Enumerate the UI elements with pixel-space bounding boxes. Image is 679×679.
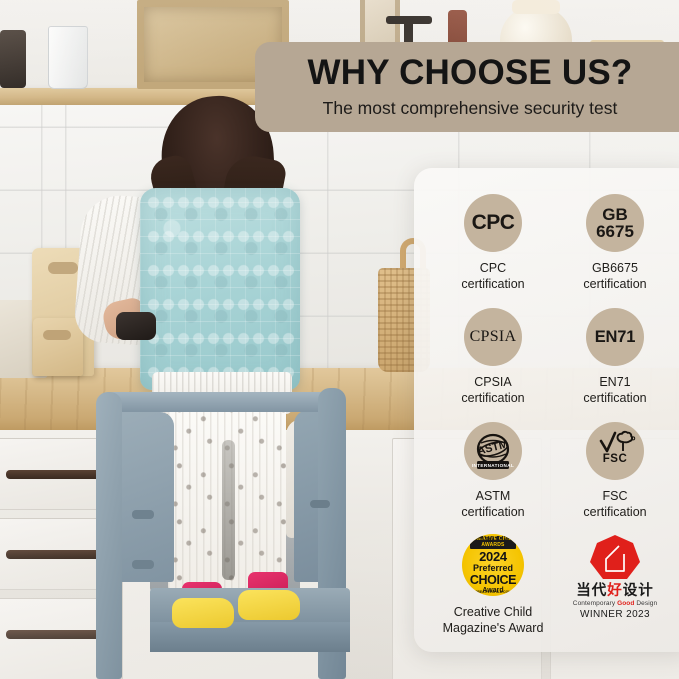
cc-preferred-text: Preferred <box>473 564 513 573</box>
tower-height-slot <box>310 500 330 508</box>
cpsia-mark-text: CPSIA <box>470 328 517 346</box>
cgd-chinese-title: 当代好设计 <box>576 584 654 599</box>
cgd-en-post: Design <box>634 600 657 607</box>
certification-item-en71: EN71 EN71 certification <box>554 308 676 406</box>
en71-label-line1: EN71 <box>599 375 630 389</box>
drawer-handle <box>6 550 104 559</box>
gb6675-badge-icon: GB 6675 <box>586 194 644 252</box>
astm-badge-icon: ASTM INTERNATIONAL <box>464 422 522 480</box>
cgd-en-good: Good <box>617 600 634 607</box>
cpsia-badge-icon: CPSIA <box>464 308 522 366</box>
cc-choice-text: CHOICE <box>470 574 516 587</box>
cpsia-label-line2: certification <box>461 391 524 405</box>
cpsia-label-line1: CPSIA <box>474 375 512 389</box>
cpsia-label: CPSIA certification <box>461 374 524 406</box>
en71-label-line2: certification <box>583 391 646 405</box>
tower-height-slot <box>132 560 154 569</box>
drawer-handle <box>6 630 104 639</box>
certification-item-gb6675: GB 6675 GB6675 certification <box>554 194 676 292</box>
page-title: WHY CHOOSE US? <box>308 55 633 92</box>
cc-year-text: 2024 <box>479 550 507 563</box>
certification-item-astm: ASTM INTERNATIONAL ASTM certification <box>432 422 554 520</box>
cc-arc-top-text: CREATIVE CHILD MAGAZINE <box>462 537 524 541</box>
shelf-glass-vase <box>48 26 88 89</box>
astm-globe-icon: ASTM INTERNATIONAL <box>471 429 515 473</box>
gb6675-label-line2: certification <box>583 277 646 291</box>
red-polygon-logo-icon <box>589 534 641 582</box>
page-subtitle: The most comprehensive security test <box>323 98 618 119</box>
astm-label-line2: certification <box>461 505 524 519</box>
gb-mark-number: 6675 <box>596 223 634 241</box>
cutting-board-small <box>33 318 83 376</box>
creative-child-award-label: Creative Child Magazine's Award <box>443 604 544 636</box>
header-banner: WHY CHOOSE US? The most comprehensive se… <box>255 42 679 132</box>
product-marketing-image: WHY CHOOSE US? The most comprehensive se… <box>0 0 679 679</box>
astm-label: ASTM certification <box>461 488 524 520</box>
cgd-cn-hao: 好 <box>607 583 623 599</box>
creative-child-award-badge-icon: CREATIVE CHILD MAGAZINE CREATIVE CHILD A… <box>462 534 524 596</box>
fsc-label: FSC certification <box>583 488 646 520</box>
drawer-handle <box>6 470 104 479</box>
award-item-creative-child: CREATIVE CHILD MAGAZINE CREATIVE CHILD A… <box>432 534 554 636</box>
cgd-winner-year: WINNER 2023 <box>580 610 650 620</box>
certification-item-cpc: CPC CPC certification <box>432 194 554 292</box>
cc-label-line2: Magazine's Award <box>443 621 544 635</box>
tower-top-rail <box>104 392 336 412</box>
cc-arc-bottom-text: CREATIVECHILD.COM <box>462 590 524 594</box>
cpc-badge-icon: CPC <box>464 194 522 252</box>
svg-text:FSC: FSC <box>603 453 628 465</box>
certification-item-fsc: FSC FSC certification <box>554 422 676 520</box>
gb6675-label-line1: GB6675 <box>592 261 638 275</box>
certification-item-cpsia: CPSIA CPSIA certification <box>432 308 554 406</box>
fsc-badge-icon: FSC <box>586 422 644 480</box>
fsc-label-line2: certification <box>583 505 646 519</box>
child-quilted-vest <box>140 188 300 390</box>
gb6675-label: GB6675 certification <box>583 260 646 292</box>
svg-text:INTERNATIONAL: INTERNATIONAL <box>472 463 514 468</box>
shelf-dark-object <box>0 30 26 88</box>
cc-label-line1: Creative Child <box>454 605 533 619</box>
child-shoe-right <box>238 590 300 620</box>
cpc-label-line2: certification <box>461 277 524 291</box>
cpc-label: CPC certification <box>461 260 524 292</box>
certification-grid: CPC CPC certification GB 6675 GB6675 cer… <box>432 194 676 520</box>
child-shoe-left <box>172 598 234 628</box>
cgd-en-pre: Contemporary <box>573 600 617 607</box>
shelf-vase-lip <box>512 0 560 14</box>
held-object <box>116 312 156 340</box>
en71-mark-text: EN71 <box>595 328 635 347</box>
award-item-contemporary-good-design: 当代好设计 Contemporary Good Design WINNER 20… <box>554 534 676 636</box>
cgd-cn-1: 当代 <box>576 583 607 599</box>
tower-post-left <box>96 392 122 679</box>
fsc-label-line1: FSC <box>602 489 627 503</box>
gb-mark-text: GB <box>602 206 628 224</box>
fsc-tree-checkmark-icon: FSC <box>593 429 637 473</box>
cgd-english-title: Contemporary Good Design <box>573 601 657 608</box>
contemporary-good-design-award-icon: 当代好设计 Contemporary Good Design WINNER 20… <box>573 534 657 620</box>
certification-panel: CPC CPC certification GB 6675 GB6675 cer… <box>414 168 679 652</box>
cpc-label-line1: CPC <box>480 261 506 275</box>
en71-badge-icon: EN71 <box>586 308 644 366</box>
awards-row: CREATIVE CHILD MAGAZINE CREATIVE CHILD A… <box>432 534 676 636</box>
astm-label-line1: ASTM <box>476 489 511 503</box>
cpc-mark-text: CPC <box>472 211 515 235</box>
cgd-cn-2: 设计 <box>623 583 654 599</box>
tower-height-slot <box>132 510 154 519</box>
leg-gap-shadow <box>222 440 235 580</box>
en71-label: EN71 certification <box>583 374 646 406</box>
